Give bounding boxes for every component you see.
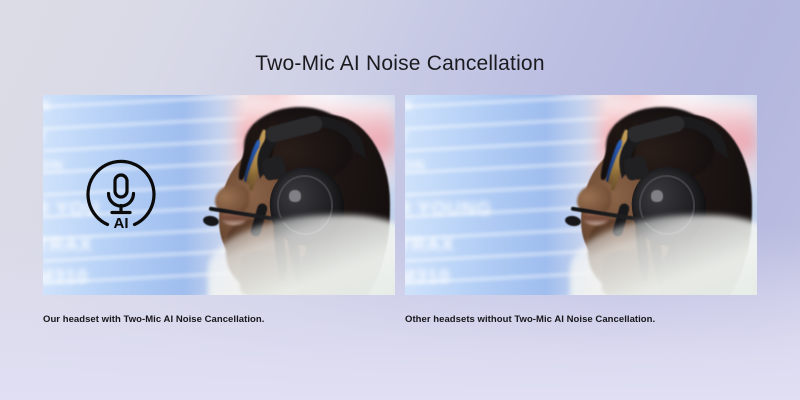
headset-brand-logo-icon	[289, 190, 301, 202]
ai-noise-cancellation-badge: AI	[83, 157, 159, 233]
photo-right: N Z ON R YOUNG TRAX M310	[405, 95, 757, 295]
captions-row: Our headset with Two-Mic AI Noise Cancel…	[43, 314, 757, 334]
caption-right: Other headsets without Two-Mic AI Noise …	[405, 314, 655, 325]
promo-banner: Two-Mic AI Noise Cancellation N Z ON R Y…	[0, 0, 800, 400]
badge-ai-label: AI	[114, 215, 129, 232]
page-title: Two-Mic AI Noise Cancellation	[0, 52, 800, 76]
comparison-image-right: N Z ON R YOUNG TRAX M310	[405, 95, 757, 295]
caption-left: Our headset with Two-Mic AI Noise Cancel…	[43, 314, 264, 325]
comparison-image-left: N Z ON R YOU TRAX M310	[43, 95, 395, 295]
headset-brand-logo-icon	[651, 190, 663, 202]
microphone-capsule-icon	[115, 175, 127, 197]
comparison-panels: N Z ON R YOU TRAX M310	[43, 95, 757, 295]
